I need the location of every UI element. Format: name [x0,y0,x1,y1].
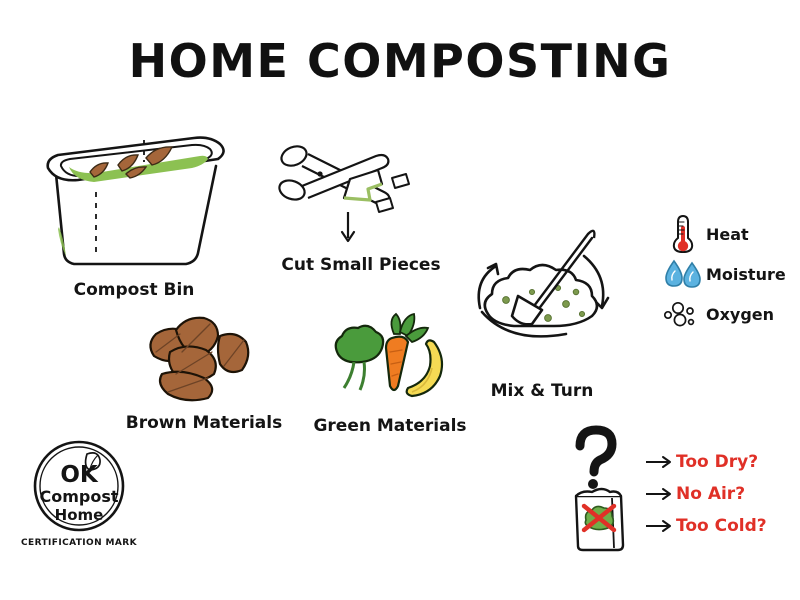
poster-canvas: HOME COMPOSTING Compost Bin [0,0,800,600]
trouble-label-no-air: No Air? [676,484,745,504]
troubleshooting-art [562,424,642,558]
condition-moisture: Moisture [660,254,800,294]
troubleshooting-section: Too Dry? No Air? [562,424,800,558]
rejected-bag-icon [576,489,623,550]
step-green-materials: Green Materials [310,308,470,436]
trouble-item-too-dry: Too Dry? [642,446,767,478]
ok-compost-home-badge: OK Compost Home [24,440,134,532]
step-cut-small-pieces: Cut Small Pieces [272,134,452,275]
water-drops-icon [660,258,706,290]
trouble-label-too-cold: Too Cold? [676,516,767,536]
step-label-compost-bin: Compost Bin [34,280,234,300]
dry-leaves-icon [124,312,284,407]
condition-label-moisture: Moisture [706,265,786,284]
compost-bin-icon [34,132,239,272]
badge-line-1: OK [60,462,99,488]
step-mix-turn: Mix & Turn [462,222,622,401]
arrow-icon [642,487,676,501]
trouble-label-too-dry: Too Dry? [676,452,758,472]
shovel-pile-icon [462,222,622,377]
arrow-icon [642,455,676,469]
condition-oxygen: Oxygen [660,294,800,334]
conditions-list: Heat Moisture [660,214,800,334]
arrow-icon [642,519,676,533]
condition-heat: Heat [660,214,800,254]
step-label-cut-small-pieces: Cut Small Pieces [272,255,450,275]
step-label-mix-turn: Mix & Turn [462,381,622,401]
step-label-green-materials: Green Materials [310,416,470,436]
trouble-item-no-air: No Air? [642,478,767,510]
page-title: HOME COMPOSTING [0,38,800,84]
step-compost-bin: Compost Bin [34,132,244,300]
bubbles-icon [660,298,706,330]
question-mark-icon [580,430,612,489]
thermometer-icon [660,214,706,254]
vegetables-icon [310,308,470,408]
condition-label-oxygen: Oxygen [706,305,774,324]
certification-caption: CERTIFICATION MARK [14,538,144,548]
step-label-brown-materials: Brown Materials [124,413,284,433]
scissors-icon [272,134,447,249]
badge-line-3: Home [55,506,104,524]
step-brown-materials: Brown Materials [124,312,284,433]
trouble-item-too-cold: Too Cold? [642,510,767,542]
certification-mark: OK Compost Home CERTIFICATION MARK [14,440,144,548]
badge-line-2: Compost [39,487,118,506]
troubleshooting-items: Too Dry? No Air? [642,424,767,542]
condition-label-heat: Heat [706,225,749,244]
